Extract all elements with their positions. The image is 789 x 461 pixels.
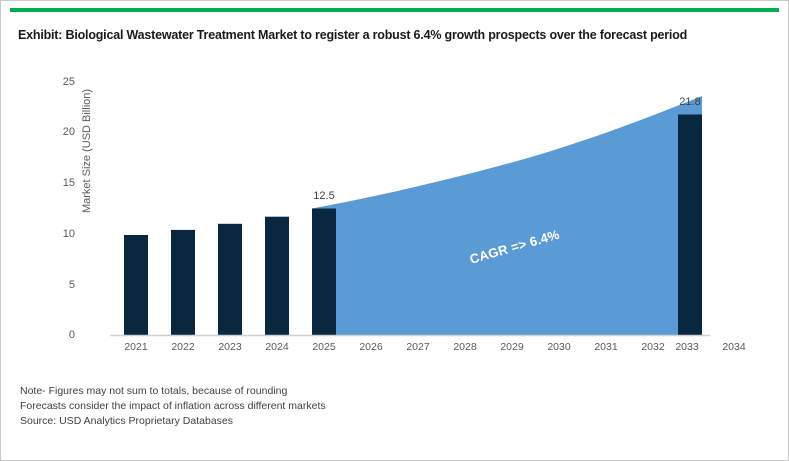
bar-2022 (171, 230, 195, 335)
bar-2024 (265, 217, 289, 335)
y-tick-label: 15 (35, 178, 75, 189)
bar-2034 (678, 115, 702, 336)
x-tick-label-2033: 2033 (665, 342, 709, 353)
bar-2023 (218, 224, 242, 335)
x-tick-label-2024: 2024 (255, 342, 299, 353)
y-axis-title: Market Size (USD Billion) (81, 56, 93, 246)
footnote-source: Source: USD Analytics Proprietary Databa… (20, 414, 326, 429)
y-tick-label: 10 (35, 229, 75, 240)
data-label-2034: 21.8 (660, 97, 720, 108)
forecast-area-fill (312, 96, 702, 335)
x-tick-label-2026: 2026 (349, 342, 393, 353)
y-tick-label: 0 (35, 330, 75, 341)
x-tick-label-2023: 2023 (208, 342, 252, 353)
data-label-2025: 12.5 (294, 191, 354, 202)
y-tick-label: 5 (35, 280, 75, 291)
bar-2021 (124, 235, 148, 335)
footnotes: Note- Figures may not sum to totals, bec… (20, 384, 326, 429)
chart-graphic (110, 82, 710, 340)
footnote-forecast: Forecasts consider the impact of inflati… (20, 399, 326, 414)
footnote-note: Note- Figures may not sum to totals, bec… (20, 384, 326, 399)
x-tick-label-2022: 2022 (161, 342, 205, 353)
x-tick-label-2029: 2029 (490, 342, 534, 353)
x-tick-label-2025: 2025 (302, 342, 346, 353)
x-tick-label-2028: 2028 (443, 342, 487, 353)
y-tick-label: 20 (35, 127, 75, 138)
y-tick-label: 25 (35, 77, 75, 88)
bar-2025 (312, 209, 336, 336)
x-tick-label-2031: 2031 (584, 342, 628, 353)
x-tick-label-2030: 2030 (537, 342, 581, 353)
x-tick-label-2027: 2027 (396, 342, 440, 353)
plot-area (110, 82, 710, 335)
x-tick-label-2021: 2021 (114, 342, 158, 353)
x-tick-label-2034: 2034 (712, 342, 756, 353)
